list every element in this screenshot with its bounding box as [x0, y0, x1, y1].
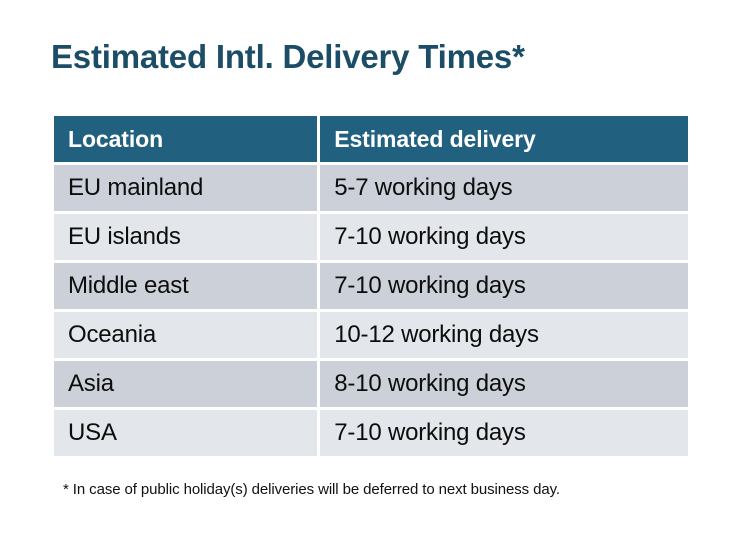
document-page: Estimated Intl. Delivery Times* Location…: [0, 0, 745, 536]
cell-location-text: USA: [54, 419, 317, 447]
cell-location: Middle east: [54, 263, 317, 309]
table-row: Oceania 10-12 working days: [54, 312, 688, 358]
cell-location: EU islands: [54, 214, 317, 260]
delivery-times-table: Location Estimated delivery EU mainland …: [51, 113, 691, 459]
cell-delivery-text: 8-10 working days: [320, 370, 688, 398]
cell-delivery: 8-10 working days: [320, 361, 688, 407]
cell-delivery: 7-10 working days: [320, 263, 688, 309]
table-row: EU mainland 5-7 working days: [54, 165, 688, 211]
cell-location: EU mainland: [54, 165, 317, 211]
cell-delivery-text: 7-10 working days: [320, 223, 688, 251]
column-header-location-label: Location: [54, 126, 317, 153]
cell-location: Oceania: [54, 312, 317, 358]
cell-delivery-text: 7-10 working days: [320, 419, 688, 447]
cell-delivery: 5-7 working days: [320, 165, 688, 211]
cell-location: Asia: [54, 361, 317, 407]
cell-location-text: Oceania: [54, 321, 317, 349]
cell-location: USA: [54, 410, 317, 456]
cell-location-text: Asia: [54, 370, 317, 398]
table-row: Middle east 7-10 working days: [54, 263, 688, 309]
table-row: EU islands 7-10 working days: [54, 214, 688, 260]
table-body: EU mainland 5-7 working days EU islands …: [54, 165, 688, 456]
cell-delivery: 10-12 working days: [320, 312, 688, 358]
cell-delivery: 7-10 working days: [320, 214, 688, 260]
cell-delivery-text: 5-7 working days: [320, 174, 688, 202]
footnote-text: * In case of public holiday(s) deliverie…: [63, 481, 560, 498]
cell-delivery-text: 7-10 working days: [320, 272, 688, 300]
cell-delivery: 7-10 working days: [320, 410, 688, 456]
cell-delivery-text: 10-12 working days: [320, 321, 688, 349]
table-row: USA 7-10 working days: [54, 410, 688, 456]
column-header-delivery: Estimated delivery: [320, 116, 688, 162]
page-title: Estimated Intl. Delivery Times*: [51, 38, 525, 76]
cell-location-text: EU mainland: [54, 174, 317, 202]
table-header: Location Estimated delivery: [54, 116, 688, 162]
cell-location-text: EU islands: [54, 223, 317, 251]
column-header-location: Location: [54, 116, 317, 162]
table-header-row: Location Estimated delivery: [54, 116, 688, 162]
table-row: Asia 8-10 working days: [54, 361, 688, 407]
cell-location-text: Middle east: [54, 272, 317, 300]
column-header-delivery-label: Estimated delivery: [320, 126, 688, 153]
